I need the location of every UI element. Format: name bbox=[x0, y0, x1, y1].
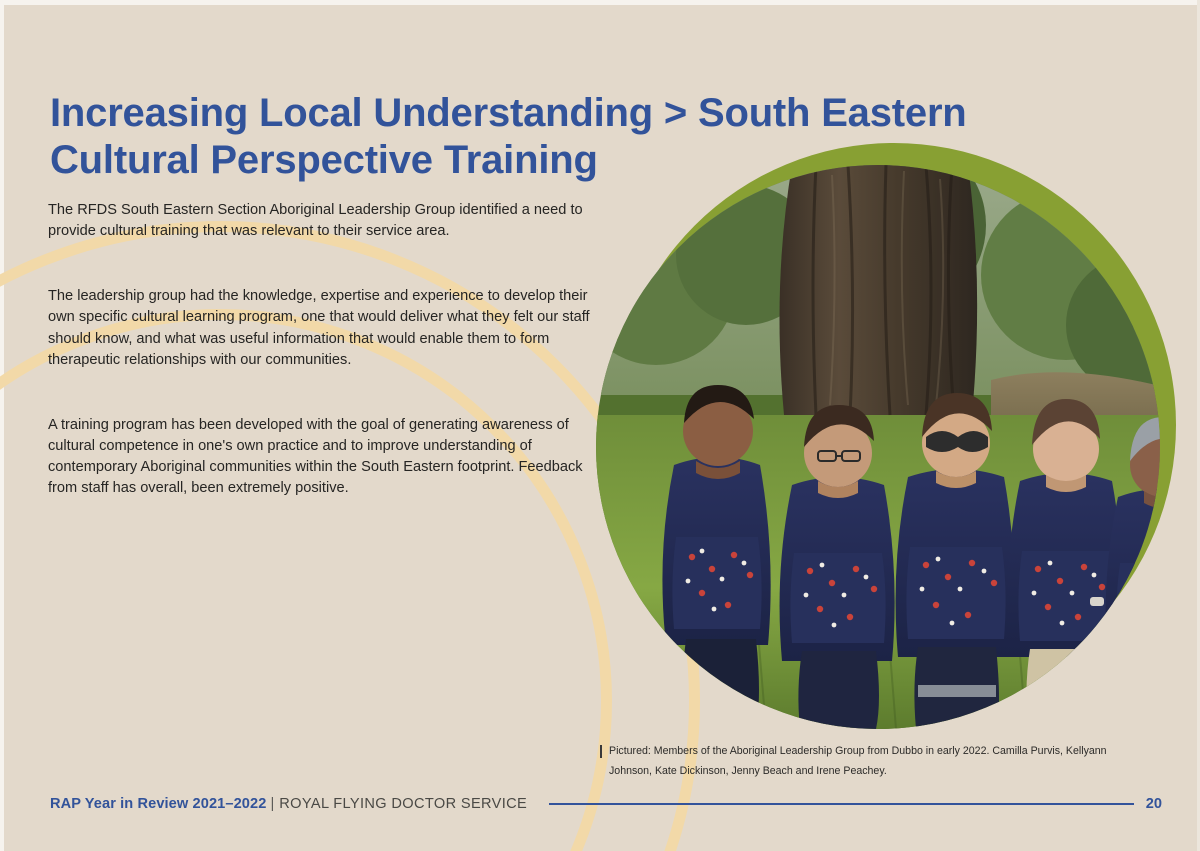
page-edge-top bbox=[0, 0, 1200, 5]
footer-divider-line bbox=[549, 803, 1134, 805]
report-page: Increasing Local Understanding > South E… bbox=[0, 0, 1200, 851]
page-number: 20 bbox=[1146, 796, 1162, 812]
page-edge-left bbox=[0, 0, 4, 851]
caption-text: Pictured: Members of the Aboriginal Lead… bbox=[609, 742, 1152, 781]
leadership-group-photo bbox=[596, 165, 1160, 729]
body-paragraph-3: A training program has been developed wi… bbox=[48, 415, 604, 500]
caption-rule-icon bbox=[600, 745, 602, 758]
footer-separator: | bbox=[266, 796, 279, 812]
body-copy: The RFDS South Eastern Section Aborigina… bbox=[48, 200, 604, 500]
photo-caption: Pictured: Members of the Aboriginal Lead… bbox=[600, 742, 1152, 781]
photo-cluster bbox=[596, 143, 1176, 723]
page-footer: RAP Year in Review 2021–2022 | ROYAL FLY… bbox=[50, 793, 1162, 815]
body-paragraph-2: The leadership group had the knowledge, … bbox=[48, 286, 604, 371]
footer-report-title: RAP Year in Review 2021–2022 bbox=[50, 796, 266, 812]
footer-organisation: ROYAL FLYING DOCTOR SERVICE bbox=[279, 796, 527, 812]
body-paragraph-1: The RFDS South Eastern Section Aborigina… bbox=[48, 200, 604, 242]
